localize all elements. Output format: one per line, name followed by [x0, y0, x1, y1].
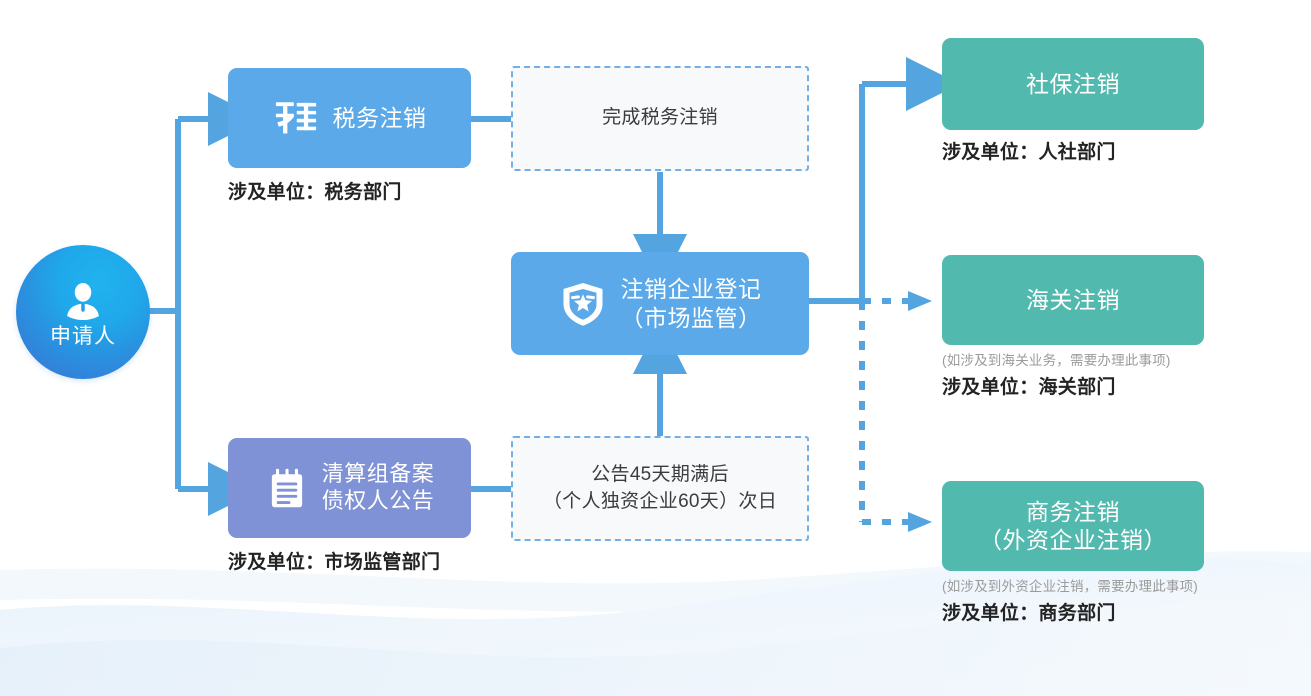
node-tax-cancellation[interactable]: 税务注销	[228, 68, 471, 168]
connector-arrowhead-customs	[908, 291, 932, 311]
connector-registration-to-results	[809, 84, 912, 301]
shield-badge-icon	[559, 280, 607, 328]
note-tax-completed: 完成税务注销	[511, 66, 809, 171]
applicant-label: 申请人	[50, 326, 116, 347]
note-announcement-period: 公告45天期满后 （个人独资企业60天）次日	[511, 436, 809, 541]
node-tax-label: 税务注销	[333, 104, 427, 132]
caption-liquidation: 涉及单位：市场监管部门	[228, 550, 440, 576]
connector-applicant-split	[146, 119, 214, 489]
caption-commerce: (如涉及到外资企业注销，需要办理此事项) 涉及单位：商务部门	[942, 578, 1198, 627]
caption-liquidation-department: 涉及单位：市场监管部门	[228, 550, 440, 576]
connector-arrowhead-commerce	[908, 512, 932, 532]
node-liquidation-label: 清算组备案 债权人公告	[322, 461, 435, 515]
node-commerce-cancellation[interactable]: 商务注销 （外资企业注销）	[942, 481, 1204, 571]
caption-tax: 涉及单位：税务部门	[228, 180, 402, 206]
caption-commerce-department: 涉及单位：商务部门	[942, 601, 1198, 627]
connector-dashed-to-commerce	[862, 301, 908, 522]
note-announcement-period-text: 公告45天期满后 （个人独资企业60天）次日	[543, 462, 777, 514]
notepad-icon	[265, 466, 309, 510]
caption-customs: (如涉及到海关业务，需要办理此事项) 涉及单位：海关部门	[942, 352, 1171, 401]
node-customs-cancellation[interactable]: 海关注销	[942, 255, 1204, 345]
caption-social-security-department: 涉及单位：人社部门	[942, 140, 1116, 166]
tax-seal-icon	[273, 95, 319, 141]
caption-customs-department: 涉及单位：海关部门	[942, 375, 1171, 401]
node-commerce-label: 商务注销 （外资企业注销）	[979, 498, 1167, 554]
node-social-security-cancellation[interactable]: 社保注销	[942, 38, 1204, 130]
caption-social-security: 涉及单位：人社部门	[942, 140, 1116, 166]
caption-commerce-note: (如涉及到外资企业注销，需要办理此事项)	[942, 578, 1198, 597]
node-liquidation-filing[interactable]: 清算组备案 债权人公告	[228, 438, 471, 538]
node-registration-cancellation[interactable]: 注销企业登记 （市场监管）	[511, 252, 809, 355]
node-social-security-label: 社保注销	[1026, 70, 1120, 98]
applicant-node[interactable]: 申请人	[16, 245, 150, 379]
person-icon	[60, 278, 106, 324]
caption-customs-note: (如涉及到海关业务，需要办理此事项)	[942, 352, 1171, 371]
caption-tax-department: 涉及单位：税务部门	[228, 180, 402, 206]
node-customs-label: 海关注销	[1026, 286, 1120, 314]
flowchart-canvas: 申请人 税务注销 涉及单位：税务部门 完成税务注销	[0, 0, 1311, 696]
note-tax-completed-text: 完成税务注销	[602, 105, 718, 131]
node-registration-label: 注销企业登记 （市场监管）	[621, 275, 762, 331]
